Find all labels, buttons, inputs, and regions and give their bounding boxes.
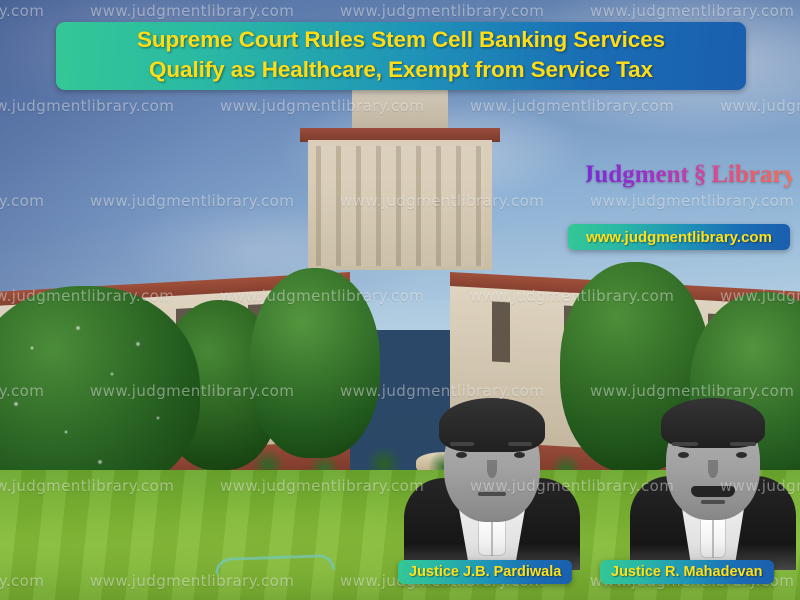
- website-url-text: www.judgmentlibrary.com: [586, 230, 772, 245]
- judge-name-badge-mahadevan: Justice R. Mahadevan: [600, 560, 774, 584]
- eyebrow-right: [730, 442, 756, 446]
- headline-line-1: Supreme Court Rules Stem Cell Banking Se…: [137, 25, 665, 55]
- eye-left: [456, 452, 467, 458]
- headline-line-2: Qualify as Healthcare, Exempt from Servi…: [149, 55, 653, 85]
- eyebrow-left: [450, 442, 474, 446]
- eye-right: [514, 452, 525, 458]
- nose: [708, 460, 718, 478]
- hair: [661, 398, 765, 448]
- mustache: [691, 486, 735, 497]
- mouth: [701, 500, 725, 504]
- judge-name-text: Justice R. Mahadevan: [611, 565, 763, 580]
- section-symbol-icon: §: [694, 162, 707, 187]
- headline-banner: Supreme Court Rules Stem Cell Banking Se…: [56, 22, 746, 90]
- judge-photo-pardiwala: [404, 384, 580, 570]
- judge-photo-mahadevan: [630, 382, 796, 570]
- website-url-banner[interactable]: www.judgmentlibrary.com: [568, 224, 790, 250]
- nose: [487, 460, 497, 478]
- logo-word-judgment: Judgment: [582, 162, 689, 187]
- judge-name-badge-pardiwala: Justice J.B. Pardiwala: [398, 560, 572, 584]
- judge-name-text: Justice J.B. Pardiwala: [409, 565, 561, 580]
- eye-right: [736, 452, 747, 458]
- logo-word-library: Library: [711, 162, 796, 187]
- judgment-summary-card: www.judgmentlibrary.comwww.judgmentlibra…: [0, 0, 800, 600]
- eyebrow-left: [672, 442, 698, 446]
- eye-left: [678, 452, 689, 458]
- brand-logo[interactable]: Judgment § Library: [586, 158, 792, 190]
- eyebrow-right: [508, 442, 532, 446]
- mouth: [478, 492, 506, 496]
